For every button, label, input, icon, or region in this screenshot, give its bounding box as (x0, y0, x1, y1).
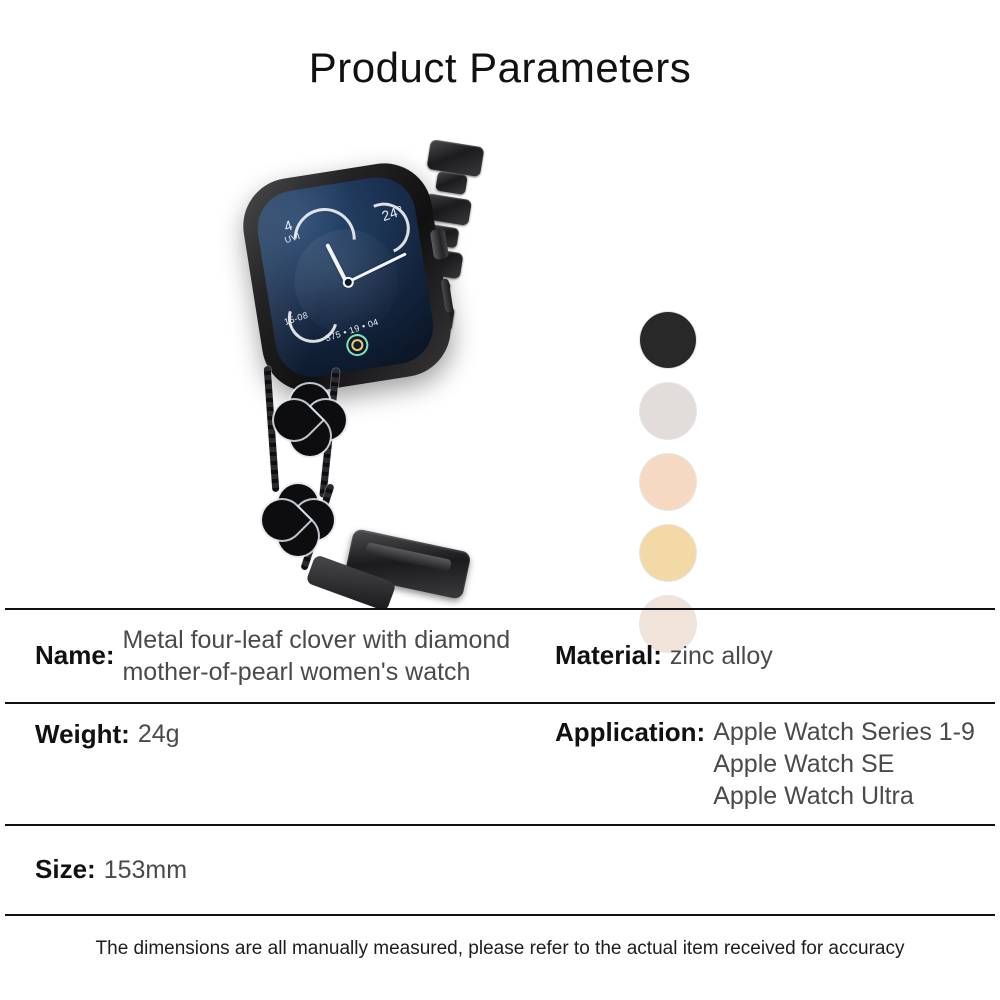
page-title: Product Parameters (0, 44, 1000, 92)
spec-label-name: Name: (35, 639, 114, 672)
spec-label-material: Material: (555, 639, 662, 672)
color-swatch-gold[interactable] (640, 525, 696, 581)
band-link (435, 171, 468, 195)
color-swatch-rose-gold[interactable] (640, 454, 696, 510)
activity-rings-icon (343, 331, 371, 359)
band-link (426, 139, 484, 177)
spec-cell-name: Name: Metal four-leaf clover with diamon… (5, 612, 555, 700)
product-photo: 4 UVI 24° 15-08 375 • 19 • 04 (230, 130, 560, 600)
watch-screen: 4 UVI 24° 15-08 375 • 19 • 04 (252, 172, 438, 383)
spec-table: Name: Metal four-leaf clover with diamon… (5, 608, 995, 916)
spec-label-size: Size: (35, 853, 96, 886)
color-swatch-black[interactable] (640, 312, 696, 368)
spec-value-weight: 24g (138, 718, 180, 750)
spec-value-application-line3: Apple Watch Ultra (713, 780, 975, 812)
spec-value-name-line2: mother-of-pearl women's watch (122, 656, 510, 688)
table-row-size: Size: 153mm (5, 826, 995, 914)
spec-value-application-line1: Apple Watch Series 1-9 (713, 716, 975, 748)
spec-label-weight: Weight: (35, 718, 130, 751)
spec-value-name: Metal four-leaf clover with diamond moth… (122, 624, 510, 688)
spec-value-material: zinc alloy (670, 640, 773, 672)
table-row-weight-application: Weight: 24g Application: Apple Watch Ser… (5, 704, 995, 824)
spec-value-application: Apple Watch Series 1-9 Apple Watch SE Ap… (713, 716, 975, 812)
spec-value-size: 153mm (104, 854, 187, 886)
measurement-disclaimer: The dimensions are all manually measured… (0, 938, 1000, 960)
spec-cell-material: Material: zinc alloy (555, 627, 995, 684)
spec-cell-application: Application: Apple Watch Series 1-9 Appl… (555, 704, 995, 824)
spec-value-name-line1: Metal four-leaf clover with diamond (122, 624, 510, 656)
product-hero: 4 UVI 24° 15-08 375 • 19 • 04 (0, 120, 1000, 600)
spec-cell-empty (555, 858, 995, 882)
band-lower (240, 362, 490, 597)
table-row-name-material: Name: Metal four-leaf clover with diamon… (5, 610, 995, 702)
spec-value-application-line2: Apple Watch SE (713, 748, 975, 780)
color-swatch-silver[interactable] (640, 383, 696, 439)
four-leaf-clover-charm (262, 484, 334, 556)
table-divider (5, 914, 995, 916)
spec-cell-weight: Weight: 24g (5, 704, 555, 824)
four-leaf-clover-charm (274, 384, 346, 456)
spec-label-application: Application: (555, 716, 705, 749)
spec-cell-size: Size: 153mm (5, 841, 555, 898)
